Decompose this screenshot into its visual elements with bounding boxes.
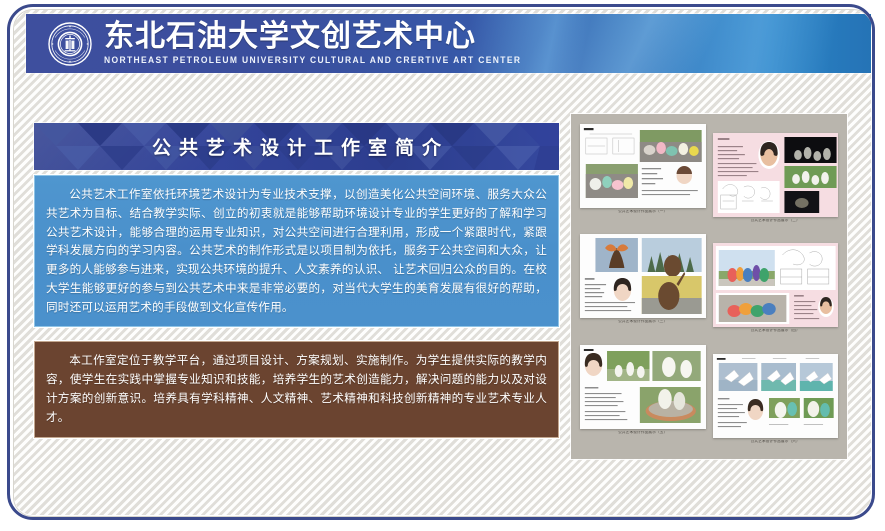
positioning-text-box: 本工作室定位于教学平台，通过项目设计、方案规划、实施制作。为学生提供实际的教学内… [34,341,559,437]
poster-caption: 公共艺术设计作品展示（一） [618,210,667,214]
intro-column: 公共艺术设计工作室简介 公共艺术工作室依托环境艺术设计为专业技术支撑，以创造美化… [34,123,559,438]
gallery-item[interactable]: 公共艺术设计作品展示（三） [580,234,706,338]
poster-thumbnail-6[interactable] [713,354,839,438]
page-title: 东北石油大学文创艺术中心 [104,22,521,52]
poster-caption: 公共艺术设计作品展示（三） [618,320,667,324]
intro-text-box: 公共艺术工作室依托环境艺术设计为专业技术支撑，以创造美化公共空间环境、服务大众公… [34,175,559,327]
poster-thumbnail-2[interactable] [713,133,839,217]
gallery-item[interactable]: 公共艺术设计作品展示（五） [580,345,706,449]
page-subtitle-english: NORTHEAST PETROLEUM UNIVERSITY CULTURAL … [104,56,521,65]
university-seal-icon [48,22,92,66]
positioning-paragraph: 本工作室定位于教学平台，通过项目设计、方案规划、实施制作。为学生提供实际的教学内… [46,351,547,426]
poster-thumbnail-4[interactable] [713,243,839,327]
poster-thumbnail-5[interactable] [580,345,706,429]
poster-canvas: 东北石油大学文创艺术中心 NORTHEAST PETROLEUM UNIVERS… [0,0,885,531]
poster-caption: 公共艺术设计作品展示（六） [751,440,800,444]
poster-thumbnail-1[interactable] [580,124,706,208]
poster-caption: 公共艺术设计作品展示（四） [751,329,800,333]
poster-grid: 公共艺术设计作品展示（一） [580,124,838,449]
content-area: 公共艺术设计工作室简介 公共艺术工作室依托环境艺术设计为专业技术支撑，以创造美化… [26,92,871,482]
intro-paragraph: 公共艺术工作室依托环境艺术设计为专业技术支撑，以创造美化公共空间环境、服务大众公… [46,185,547,316]
page-header-banner: 东北石油大学文创艺术中心 NORTHEAST PETROLEUM UNIVERS… [26,14,871,73]
poster-thumbnail-3[interactable] [580,234,706,318]
gallery-item[interactable]: 公共艺术设计作品展示（一） [580,124,706,228]
gallery-item[interactable]: 公共艺术设计作品展示（二） [713,124,839,228]
gallery-item[interactable]: 公共艺术设计作品展示（六） [713,345,839,449]
section-title-bar: 公共艺术设计工作室简介 [34,123,559,170]
section-title: 公共艺术设计工作室简介 [144,133,449,160]
project-gallery-panel: 公共艺术设计作品展示（一） [571,114,847,459]
poster-caption: 公共艺术设计作品展示（五） [618,431,667,435]
gallery-item[interactable]: 公共艺术设计作品展示（四） [713,234,839,338]
poster-caption: 公共艺术设计作品展示（二） [751,219,800,223]
